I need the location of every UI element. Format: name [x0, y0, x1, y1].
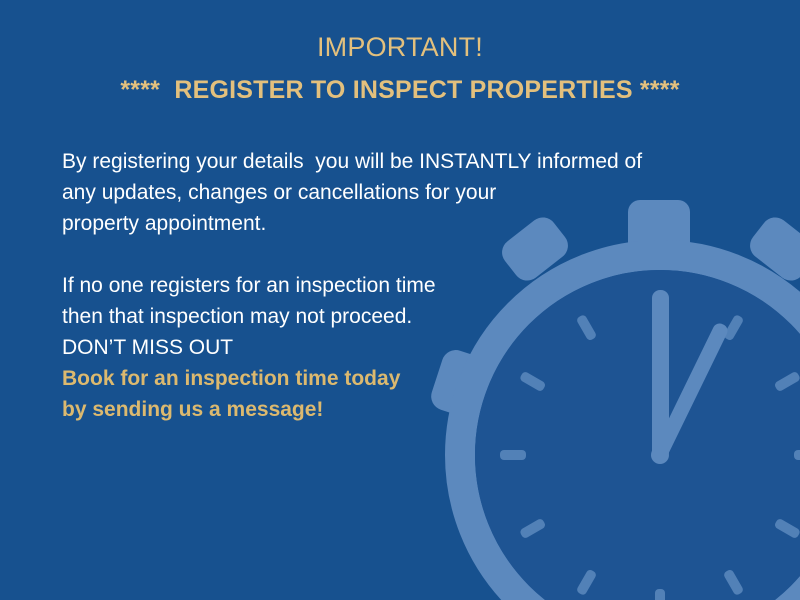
text-layer: IMPORTANT! **** REGISTER TO INSPECT PROP…: [0, 0, 800, 600]
paragraph-noregisters-line1: If no one registers for an inspection ti…: [62, 270, 722, 301]
cta-send-message: by sending us a message!: [62, 394, 722, 425]
body-block: By registering your details you will be …: [62, 146, 722, 425]
paragraph-noregisters-line2: then that inspection may not proceed.: [62, 301, 722, 332]
cta-dont-miss-out: DON’T MISS OUT: [62, 332, 722, 363]
headline-register: **** REGISTER TO INSPECT PROPERTIES ****: [0, 73, 800, 107]
paragraph-registering-line1: By registering your details you will be …: [62, 146, 722, 177]
paragraph-registering-line2: any updates, changes or cancellations fo…: [62, 177, 722, 208]
paragraph-registering-line3: property appointment.: [62, 208, 722, 239]
promo-slide: IMPORTANT! **** REGISTER TO INSPECT PROP…: [0, 0, 800, 600]
headline-important: IMPORTANT!: [0, 30, 800, 64]
headline-block: IMPORTANT! **** REGISTER TO INSPECT PROP…: [0, 30, 800, 107]
cta-book-inspection: Book for an inspection time today: [62, 363, 722, 394]
